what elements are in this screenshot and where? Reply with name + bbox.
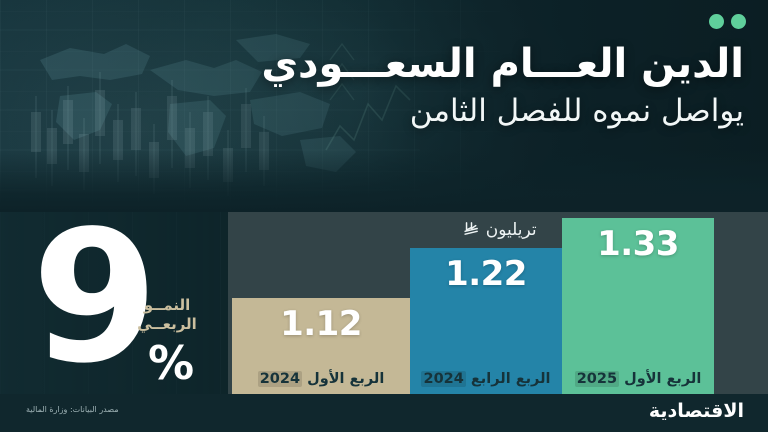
infographic-canvas: الدين العـــام السعـــودي يواصل نموه للف… [0, 0, 768, 432]
decor-dots [709, 14, 746, 29]
green-dot-icon [709, 14, 724, 29]
page-title: الدين العـــام السعـــودي [40, 42, 744, 87]
bar-year-label: 2025 [575, 371, 619, 387]
brand-logo: الاقتصادية [649, 400, 744, 422]
bar-category-label: الربع الرابع 2024 [410, 371, 562, 387]
title-block: الدين العـــام السعـــودي يواصل نموه للف… [40, 42, 744, 130]
bar-category-label: الربع الأول 2024 [232, 371, 410, 387]
bar-quarter-label: الربع الأول [624, 371, 701, 387]
bar-q4-2024[interactable]: 1.22 الربع الرابع 2024 [410, 248, 562, 394]
growth-highlight: 9 النمــو الربعــي % [0, 212, 228, 394]
growth-label: النمــو الربعــي [124, 296, 210, 334]
footer-bar: مصدر البيانات: وزارة المالية الاقتصادية [0, 394, 768, 432]
bar-value-label: 1.12 [280, 307, 362, 341]
bar-q1-2025[interactable]: 1.33 الربع الأول 2025 [562, 218, 714, 394]
bar-quarter-label: الربع الرابع [471, 371, 551, 387]
bar-value-label: 1.22 [445, 257, 527, 291]
bar-chart-panel: تريليون 1.12 الربع الأول 2024 [228, 212, 768, 394]
page-subtitle: يواصل نموه للفصل الثامن [40, 93, 744, 130]
data-source-text: مصدر البيانات: وزارة المالية [26, 405, 119, 414]
bar-year-label: 2024 [258, 371, 302, 387]
bar-year-label: 2024 [421, 371, 465, 387]
bar-quarter-label: الربع الأول [307, 371, 384, 387]
bar-category-label: الربع الأول 2025 [562, 371, 714, 387]
percent-symbol: % [128, 340, 214, 386]
bars-container: 1.12 الربع الأول 2024 1.22 الربع الرابع … [228, 212, 768, 394]
bar-value-label: 1.33 [597, 227, 679, 261]
green-dot-icon [731, 14, 746, 29]
bar-q1-2024[interactable]: 1.12 الربع الأول 2024 [232, 298, 410, 394]
